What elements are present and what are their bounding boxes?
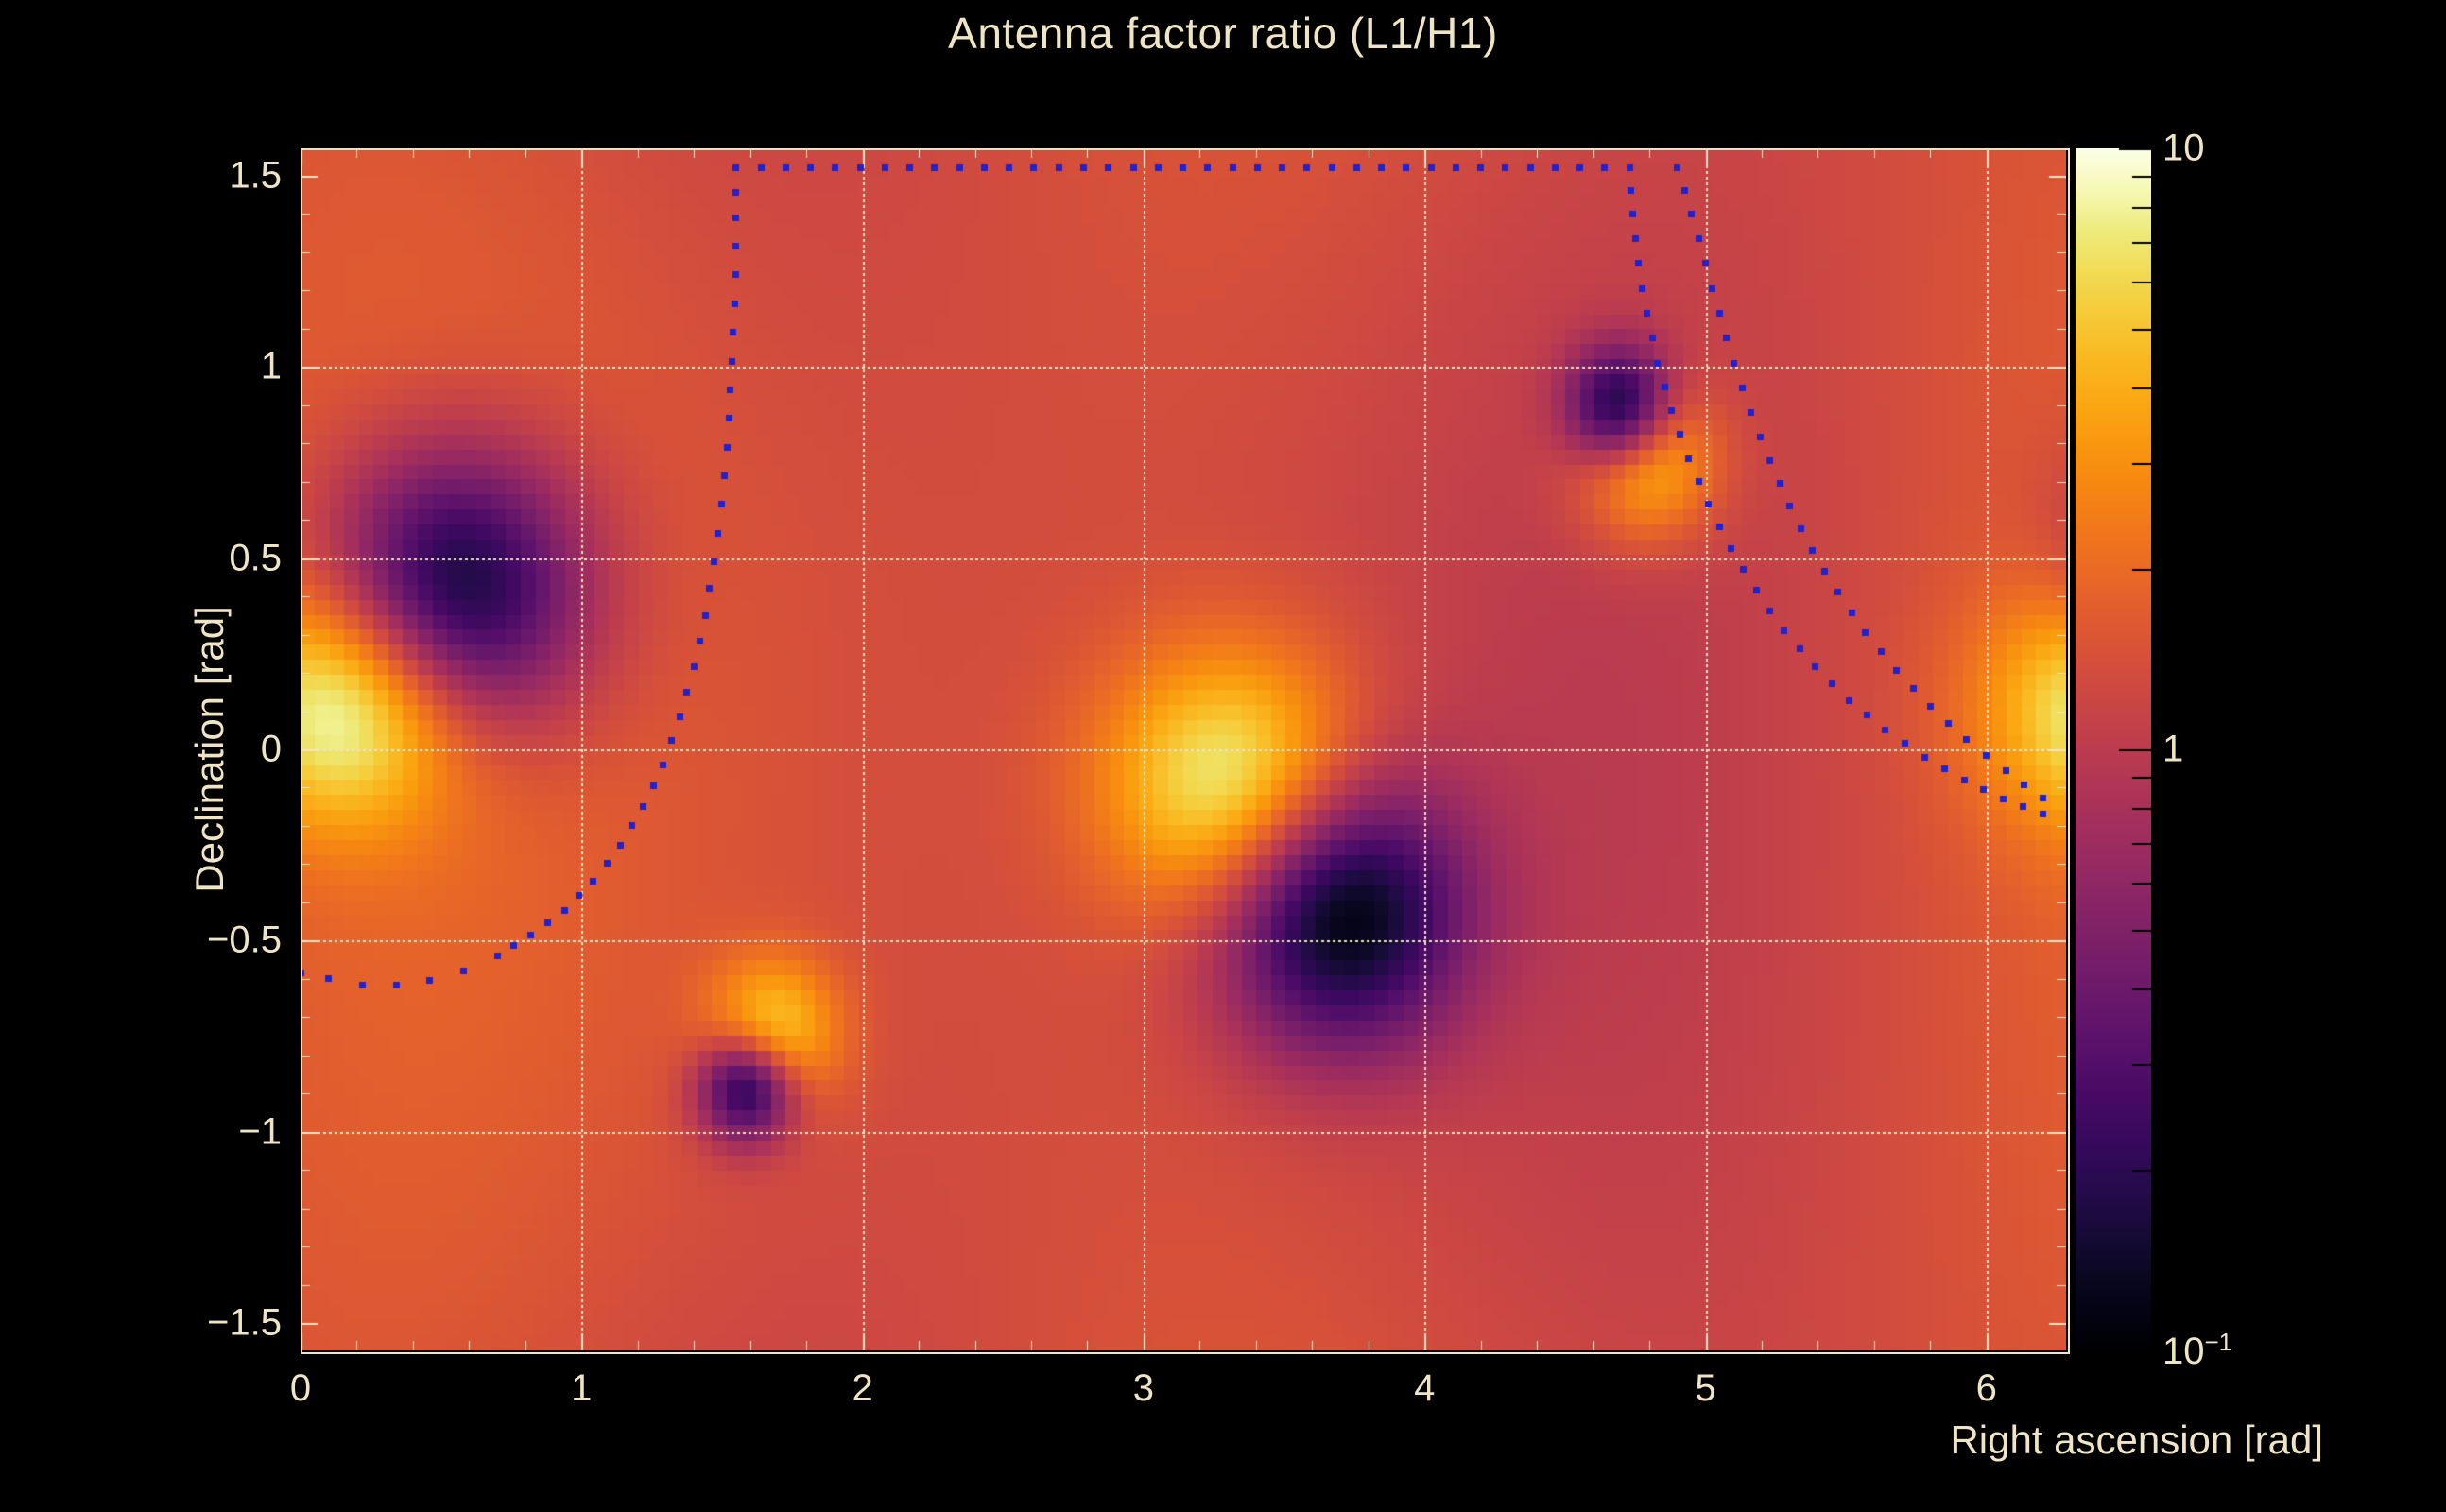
y-tick-label: 0 [102,729,282,771]
colorbar-tick-label: 10 [2162,128,2205,170]
y-tick-label: −1.5 [102,1302,282,1345]
page-title: Antenna factor ratio (L1/H1) [0,8,2446,59]
y-tick-label: −0.5 [102,919,282,962]
y-tick-label: 0.5 [102,537,282,579]
x-tick-label: 0 [290,1367,311,1410]
x-tick-label: 3 [1133,1367,1154,1410]
plot-area[interactable] [301,148,2066,1350]
colorbar-tick-label: 10−1 [2162,1328,2232,1373]
x-tick-label: 5 [1695,1367,1715,1410]
x-axis-title: Right ascension [rad] [1950,1417,2323,1463]
y-tick-label: 1.5 [102,154,282,197]
y-tick-label: 1 [102,346,282,388]
x-tick-label: 2 [852,1367,872,1410]
heatmap-image [301,148,2066,1350]
colorbar-tick-label: 1 [2162,729,2183,771]
colorbar[interactable] [2076,148,2151,1350]
x-tick-label: 1 [571,1367,592,1410]
x-tick-label: 4 [1414,1367,1435,1410]
colorbar-title-wrap: Antenna factor ratio (L1/H1) [2287,148,2344,1350]
y-tick-label: −1 [102,1110,282,1153]
colorbar-gradient [2076,148,2151,1350]
figure-canvas: Antenna factor ratio (L1/H1) Declination… [0,0,2446,1512]
x-tick-label: 6 [1976,1367,1997,1410]
